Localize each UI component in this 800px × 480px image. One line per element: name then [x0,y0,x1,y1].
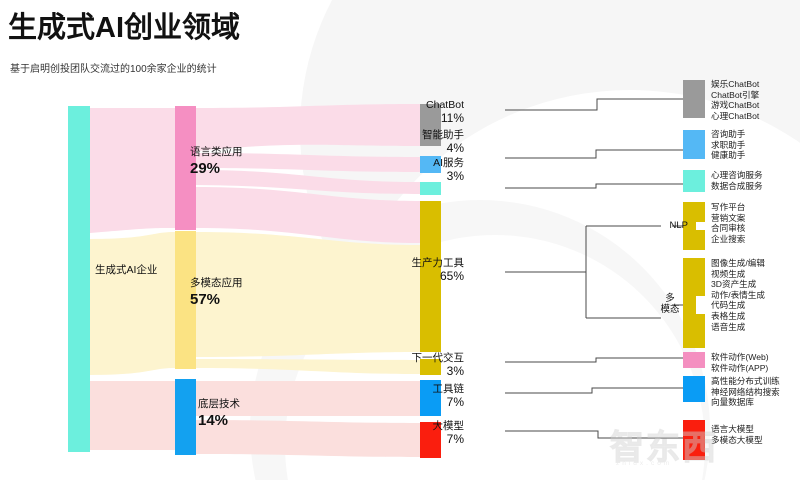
mid-label-multimodal-line1: 多 [665,293,675,304]
legend-swatch-chatbot [683,80,705,118]
legend-item: 动作/表情生成 [711,290,765,301]
legend-text-nextui: 软件动作(Web) 软件动作(APP) [711,352,769,373]
legend-item: 健康助手 [711,150,745,161]
mid-label-nlp: NLP [660,220,688,231]
legend-swatch-chain [683,376,705,402]
connector-aisvc [505,184,683,188]
legend-item: 软件动作(APP) [711,363,769,374]
legend-item: 3D资产生成 [711,279,765,290]
legend-item: 表格生成 [711,311,765,322]
legend-item: 心理ChatBot [711,111,759,122]
connector-llm [505,431,683,438]
legend-item: 神经网络结构搜索 [711,387,780,398]
legend-swatch-nextui [683,352,705,368]
legend-swatch-aisvc [683,170,705,192]
mid-label-nlp-text: NLP [670,220,688,231]
legend-item: 数据合成服务 [711,181,763,192]
mid-label-multimodal: 多 模态 [655,293,685,315]
legend-item: 视频生成 [711,269,765,280]
legend-text-prod-mm: 图像生成/编辑 视频生成 3D资产生成 动作/表情生成 代码生成 表格生成 语音… [711,258,765,332]
legend-connectors [0,0,800,480]
legend-swatch-llm [683,420,705,460]
legend-item: 图像生成/编辑 [711,258,765,269]
legend-text-chatbot: 娱乐ChatBot ChatBot引擎 游戏ChatBot 心理ChatBot [711,79,759,121]
legend-text-aisvc: 心理咨询服务 数据合成服务 [711,170,763,191]
legend-item: 写作平台 [711,202,745,213]
legend-item: 求职助手 [711,140,745,151]
legend-text-assist: 咨询助手 求职助手 健康助手 [711,129,745,161]
connector-chain [505,388,683,393]
mid-label-multimodal-line2: 模态 [660,304,679,315]
legend-item: 高性能分布式训练 [711,376,780,387]
legend-item: 企业搜索 [711,234,745,245]
legend-item: 语言大模型 [711,424,763,435]
legend-item: 咨询助手 [711,129,745,140]
legend-text-llm: 语言大模型 多模态大模型 [711,424,763,445]
legend-item: 多模态大模型 [711,435,763,446]
connector-nextui [505,358,683,362]
legend-text-chain: 高性能分布式训练 神经网络结构搜索 向量数据库 [711,376,780,408]
legend-item: 游戏ChatBot [711,100,759,111]
legend-swatch-prod-mm [683,258,705,348]
legend-item: 合同审核 [711,223,745,234]
connector-chatbot [505,99,683,110]
legend-item: 语音生成 [711,322,765,333]
legend-item: 营销文案 [711,213,745,224]
legend-item: 软件动作(Web) [711,352,769,363]
connector-assist [505,150,683,158]
legend-item: 代码生成 [711,300,765,311]
chart-canvas: 生成式AI创业领域 基于启明创投团队交流过的100余家企业的统计 [0,0,800,480]
legend-item: 心理咨询服务 [711,170,763,181]
legend-item: 娱乐ChatBot [711,79,759,90]
legend-swatch-assist [683,130,705,159]
legend-item: ChatBot引擎 [711,90,759,101]
legend-item: 向量数据库 [711,397,780,408]
legend-text-prod-nlp: 写作平台 营销文案 合同审核 企业搜索 [711,202,745,244]
